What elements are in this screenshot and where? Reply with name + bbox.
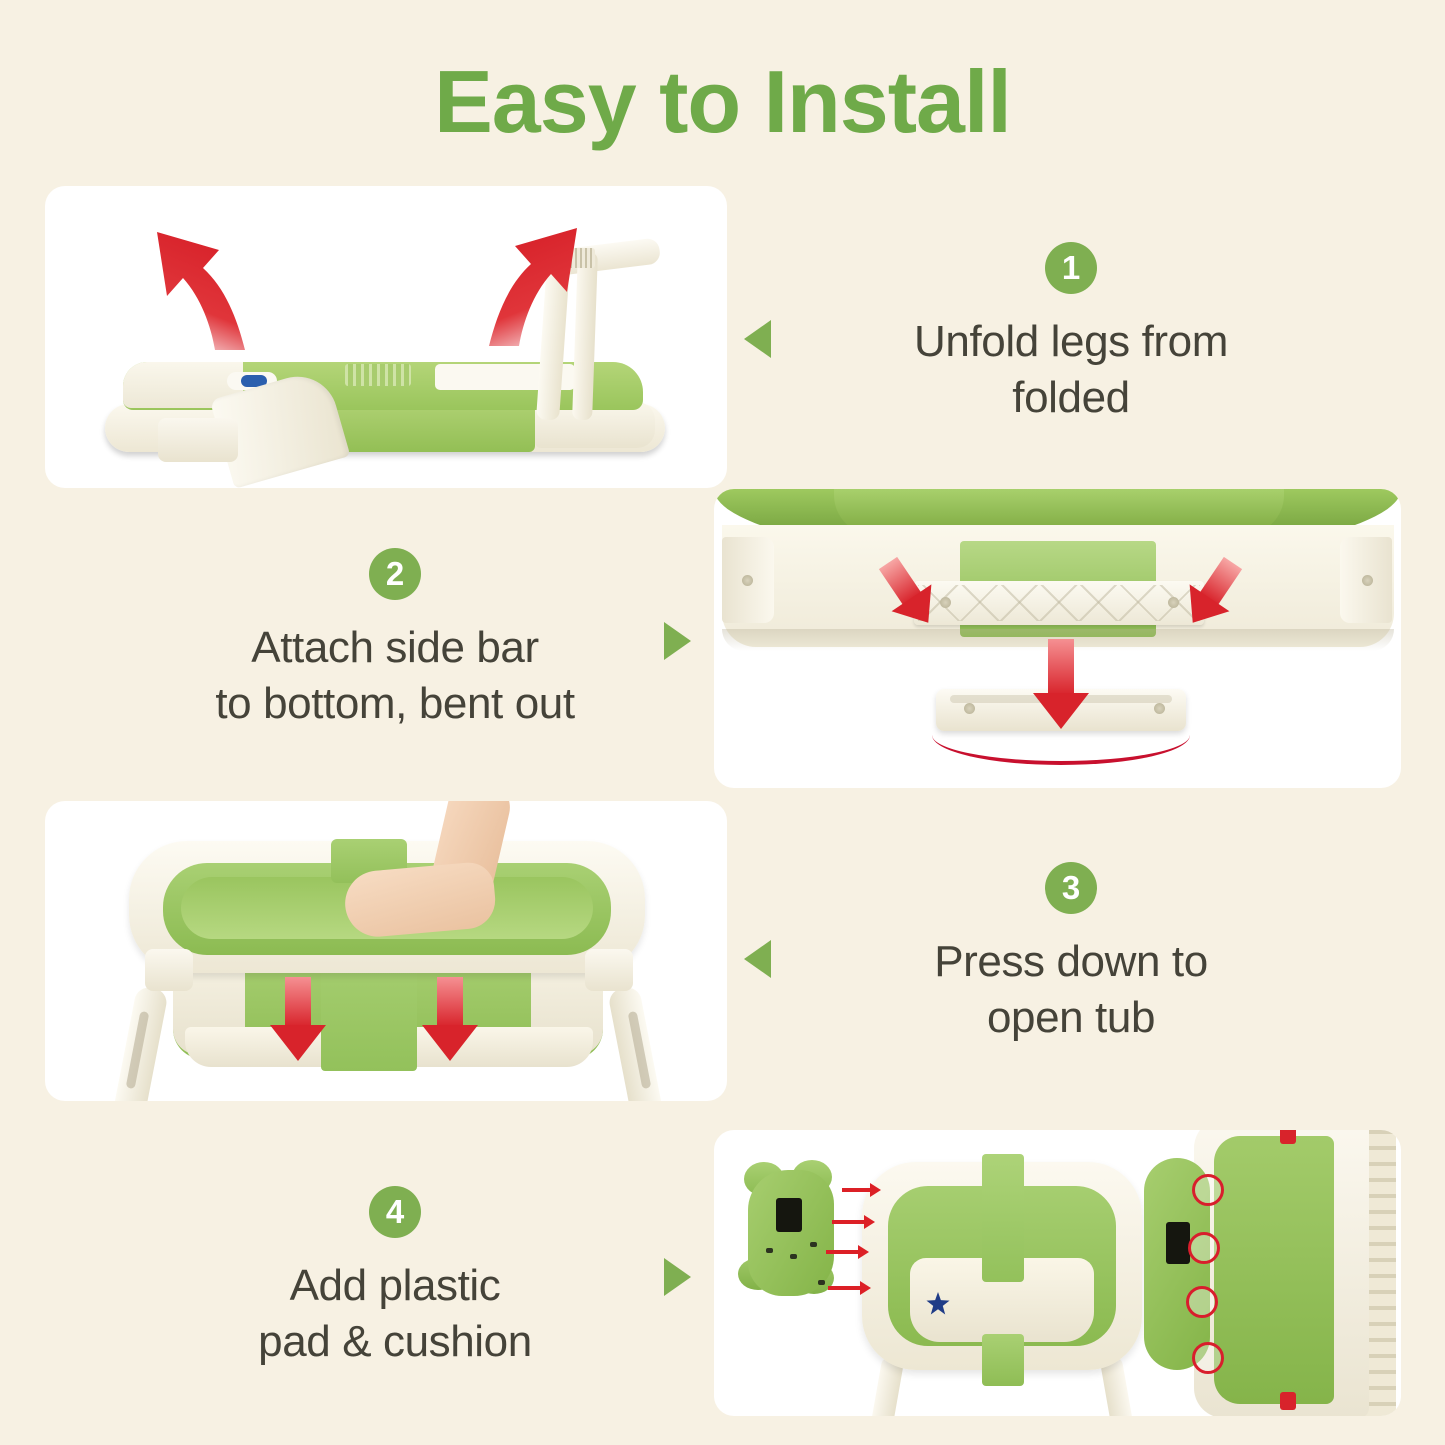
infographic-root: Easy to Install (0, 0, 1445, 1445)
attach-arrow-4-icon (828, 1286, 862, 1290)
step-4-pointer-triangle-icon (664, 1258, 691, 1296)
hand (342, 861, 497, 940)
red-curved-line-icon (932, 735, 1190, 765)
step-1-pointer-triangle-icon (744, 320, 771, 358)
step-2-photo-card (714, 489, 1401, 788)
step-4-photo-card (714, 1130, 1401, 1416)
step-3-pointer-triangle-icon (744, 940, 771, 978)
callout-ring-1-icon (1192, 1174, 1224, 1206)
step-2-badge: 2 (369, 548, 421, 600)
clip-marker-bottom-icon (1280, 1392, 1296, 1410)
red-arrow-down-right-icon (437, 977, 463, 1027)
frog-pad (748, 1170, 834, 1296)
red-arrow-down-left-icon (285, 977, 311, 1027)
red-curved-arrow-up-left-icon (141, 222, 291, 352)
step-2-caption: Attach side bar to bottom, bent out (148, 620, 642, 733)
photo-folded-tub-side-view (45, 186, 727, 488)
photo-hand-pressing-tub (45, 801, 727, 1101)
step-2-pointer-triangle-icon (664, 622, 691, 660)
step-1-text-block: 1 Unfold legs from folded (836, 242, 1306, 427)
red-curved-arrow-up-right-icon (443, 218, 593, 348)
step-2-text-block: 2 Attach side bar to bottom, bent out (148, 548, 642, 733)
step-4-text-block: 4 Add plastic pad & cushion (148, 1186, 642, 1371)
step-3-text-block: 3 Press down to open tub (836, 862, 1306, 1047)
callout-ring-2-icon (1188, 1232, 1220, 1264)
step-3-caption: Press down to open tub (836, 934, 1306, 1047)
attach-arrow-2-icon (832, 1220, 866, 1224)
step-4-badge: 4 (369, 1186, 421, 1238)
callout-ring-3-icon (1186, 1286, 1218, 1318)
photo-tub-bottom-closeup (714, 489, 1401, 788)
step-3-badge: 3 (1045, 862, 1097, 914)
attach-arrow-1-icon (842, 1188, 872, 1192)
step-1-photo-card (45, 186, 727, 488)
photo-frog-pad-attachment (714, 1130, 1401, 1416)
page-title: Easy to Install (0, 58, 1445, 146)
clip-marker-top-icon (1280, 1130, 1296, 1144)
step-3-photo-card (45, 801, 727, 1101)
step-1-caption: Unfold legs from folded (836, 314, 1306, 427)
red-arrow-down-icon (1048, 639, 1074, 695)
callout-ring-4-icon (1192, 1342, 1224, 1374)
step-4-caption: Add plastic pad & cushion (148, 1258, 642, 1371)
attach-arrow-3-icon (826, 1250, 860, 1254)
step-1-badge: 1 (1045, 242, 1097, 294)
